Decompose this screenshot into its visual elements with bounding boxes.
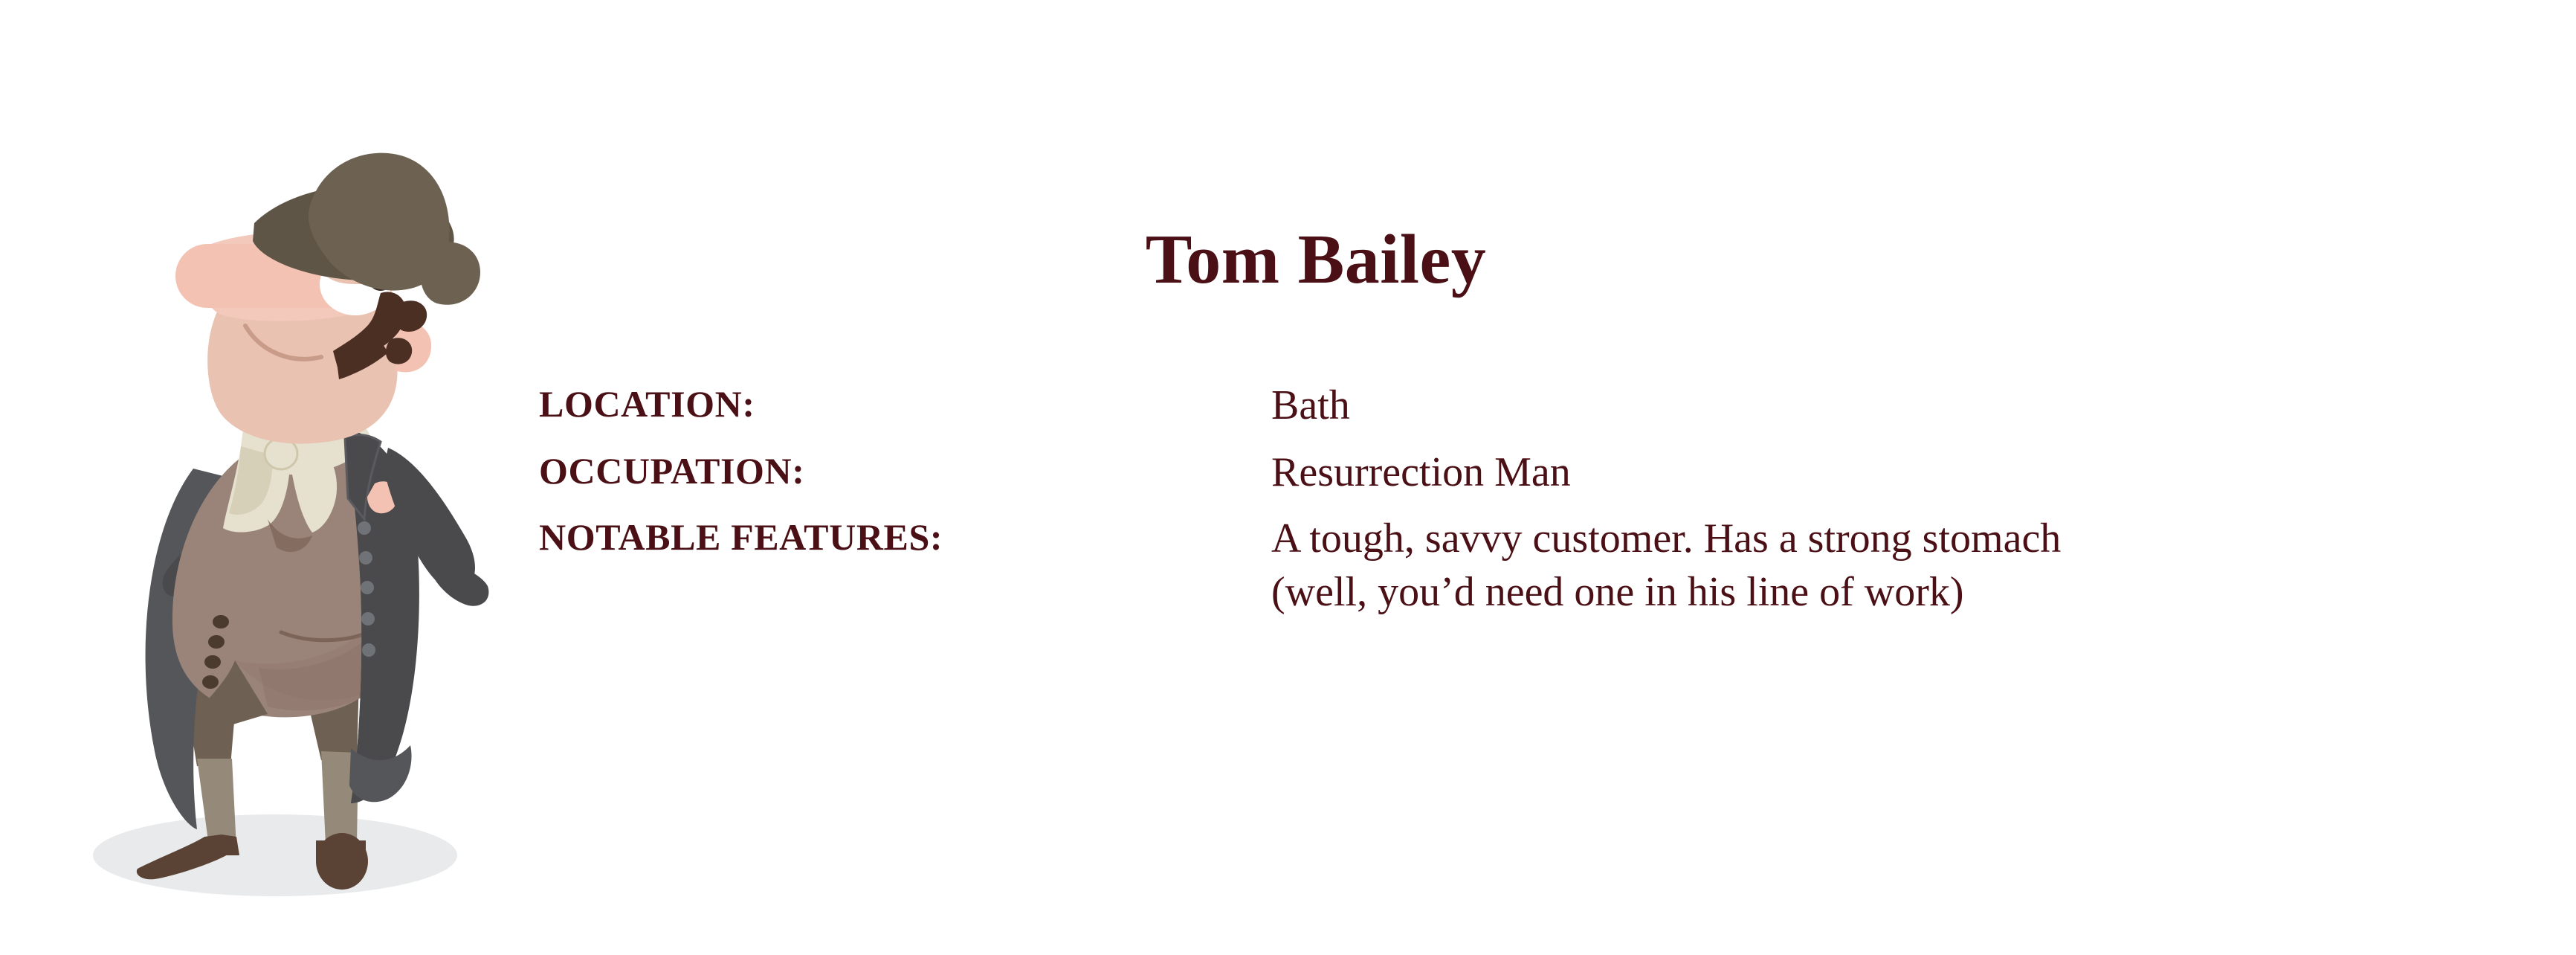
profile-fields-table: LOCATION: Bath OCCUPATION: Resurrection … xyxy=(539,379,2546,633)
field-value-line: (well, you’d need one in his line of wor… xyxy=(1271,566,2505,620)
ground-shadow-shape xyxy=(93,814,457,896)
field-label-notable-features: NOTABLE FEATURES: xyxy=(539,512,1271,563)
field-value-line: Bath xyxy=(1271,379,2505,433)
field-value-location: Bath xyxy=(1271,379,2505,433)
field-value-line: Resurrection Man xyxy=(1271,446,2505,500)
head-group xyxy=(175,153,480,444)
character-illustration xyxy=(45,112,535,915)
field-value-occupation: Resurrection Man xyxy=(1271,446,2505,500)
field-row-location: LOCATION: Bath xyxy=(539,379,2546,433)
field-row-notable-features: NOTABLE FEATURES: A tough, savvy custome… xyxy=(539,512,2546,619)
field-value-line: A tough, savvy customer. Has a strong st… xyxy=(1271,512,2505,566)
page-title: Tom Bailey xyxy=(818,223,1814,297)
field-row-occupation: OCCUPATION: Resurrection Man xyxy=(539,446,2546,500)
field-value-notable-features: A tough, savvy customer. Has a strong st… xyxy=(1271,512,2505,619)
field-label-occupation: OCCUPATION: xyxy=(539,446,1271,497)
field-label-location: LOCATION: xyxy=(539,379,1271,430)
character-profile-card: Tom Bailey LOCATION: Bath OCCUPATION: Re… xyxy=(0,0,2576,955)
hat-side-flap-shape xyxy=(421,242,480,304)
